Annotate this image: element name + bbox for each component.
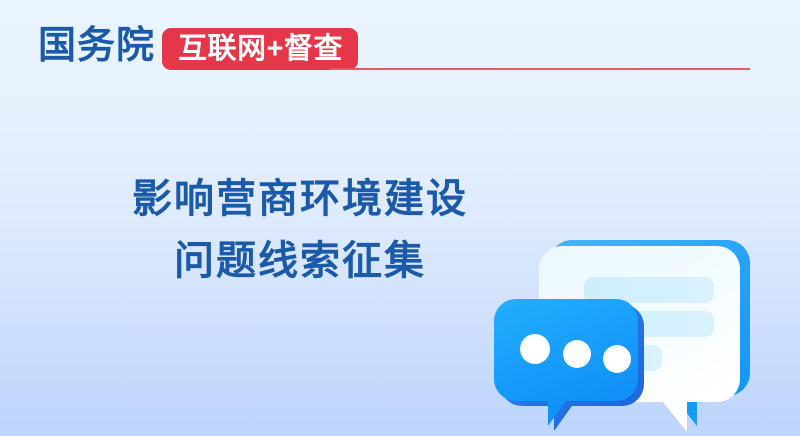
typing-dot-1 xyxy=(520,334,550,364)
typing-dot-3 xyxy=(603,345,631,373)
chat-bubbles-illustration xyxy=(490,215,760,436)
header-divider-line xyxy=(330,68,750,70)
gov-logo-text: 国务院 xyxy=(38,23,155,69)
page-banner: 国务院 互联网+督查 影响营商环境建设 问题线索征集 xyxy=(0,0,800,436)
typing-dot-2 xyxy=(563,340,591,368)
internet-plus-supervision-badge: 互联网+督查 xyxy=(162,28,358,70)
banner-header: 国务院 互联网+督查 xyxy=(0,0,800,96)
badge-label: 互联网+督查 xyxy=(178,35,343,64)
